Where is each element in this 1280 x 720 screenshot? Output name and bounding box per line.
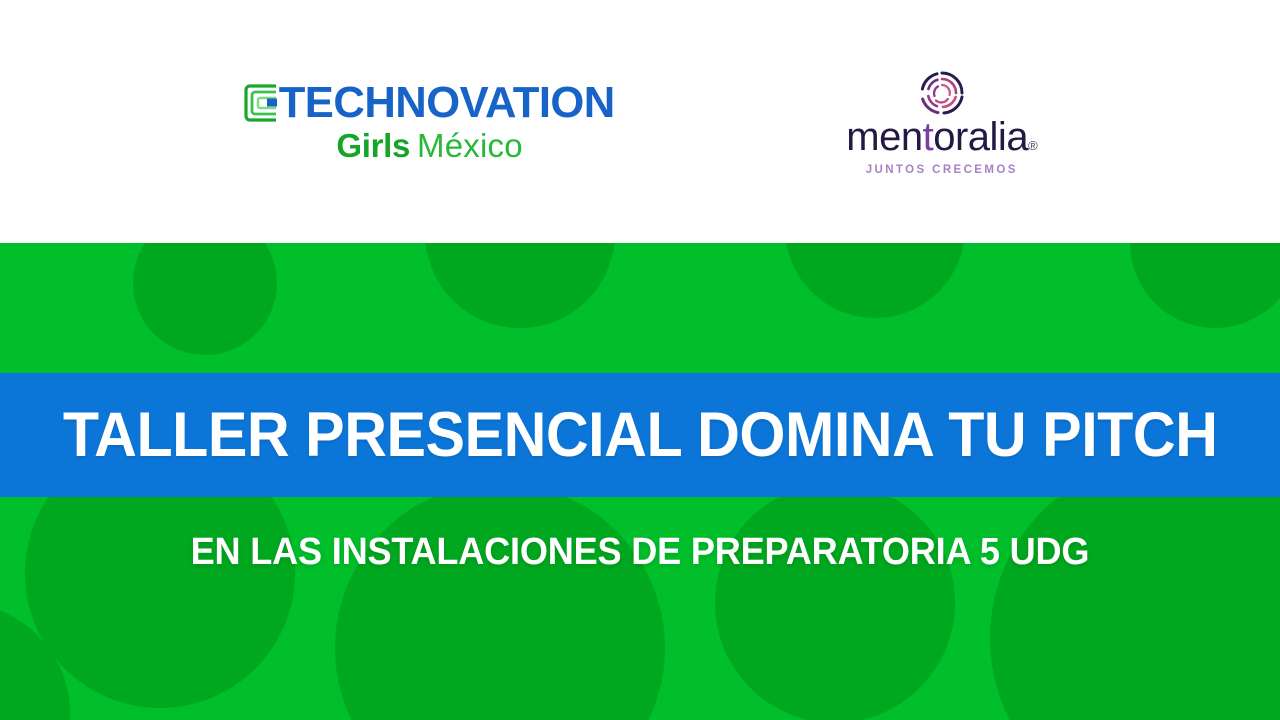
subtitle-area: EN LAS INSTALACIONES DE PREPARATORIA 5 U… bbox=[0, 497, 1280, 607]
concentric-arc-circle-icon bbox=[914, 67, 970, 119]
title-band: TALLER PRESENCIAL DOMINA TU PITCH bbox=[0, 373, 1280, 497]
mentoralia-wordmark-post: oralia bbox=[933, 115, 1028, 159]
technovation-wordmark: TECHNOVATION bbox=[279, 81, 615, 125]
mentoralia-wordmark: mentoralia® bbox=[846, 117, 1037, 157]
mentoralia-logo: mentoralia® JUNTOS CRECEMOS bbox=[846, 67, 1037, 176]
logo-header: TECHNOVATION Girls México bbox=[0, 0, 1280, 243]
page-title: TALLER PRESENCIAL DOMINA TU PITCH bbox=[63, 399, 1218, 471]
mentoralia-wordmark-accent-t: t bbox=[923, 115, 934, 159]
registered-trademark-icon: ® bbox=[1028, 138, 1037, 153]
technovation-subwordmark-row: Girls México bbox=[336, 129, 522, 162]
nested-square-spiral-icon bbox=[243, 83, 279, 123]
mentoralia-wordmark-pre: men bbox=[846, 115, 922, 159]
event-poster: TECHNOVATION Girls México bbox=[0, 0, 1280, 720]
page-subtitle: EN LAS INSTALACIONES DE PREPARATORIA 5 U… bbox=[191, 531, 1090, 574]
technovation-girls-label: Girls bbox=[336, 129, 410, 162]
technovation-wordmark-row: TECHNOVATION bbox=[243, 81, 616, 125]
technovation-mexico-label: México bbox=[417, 129, 523, 162]
technovation-logo: TECHNOVATION Girls México bbox=[243, 81, 616, 162]
mentoralia-tagline: JUNTOS CRECEMOS bbox=[866, 164, 1018, 176]
